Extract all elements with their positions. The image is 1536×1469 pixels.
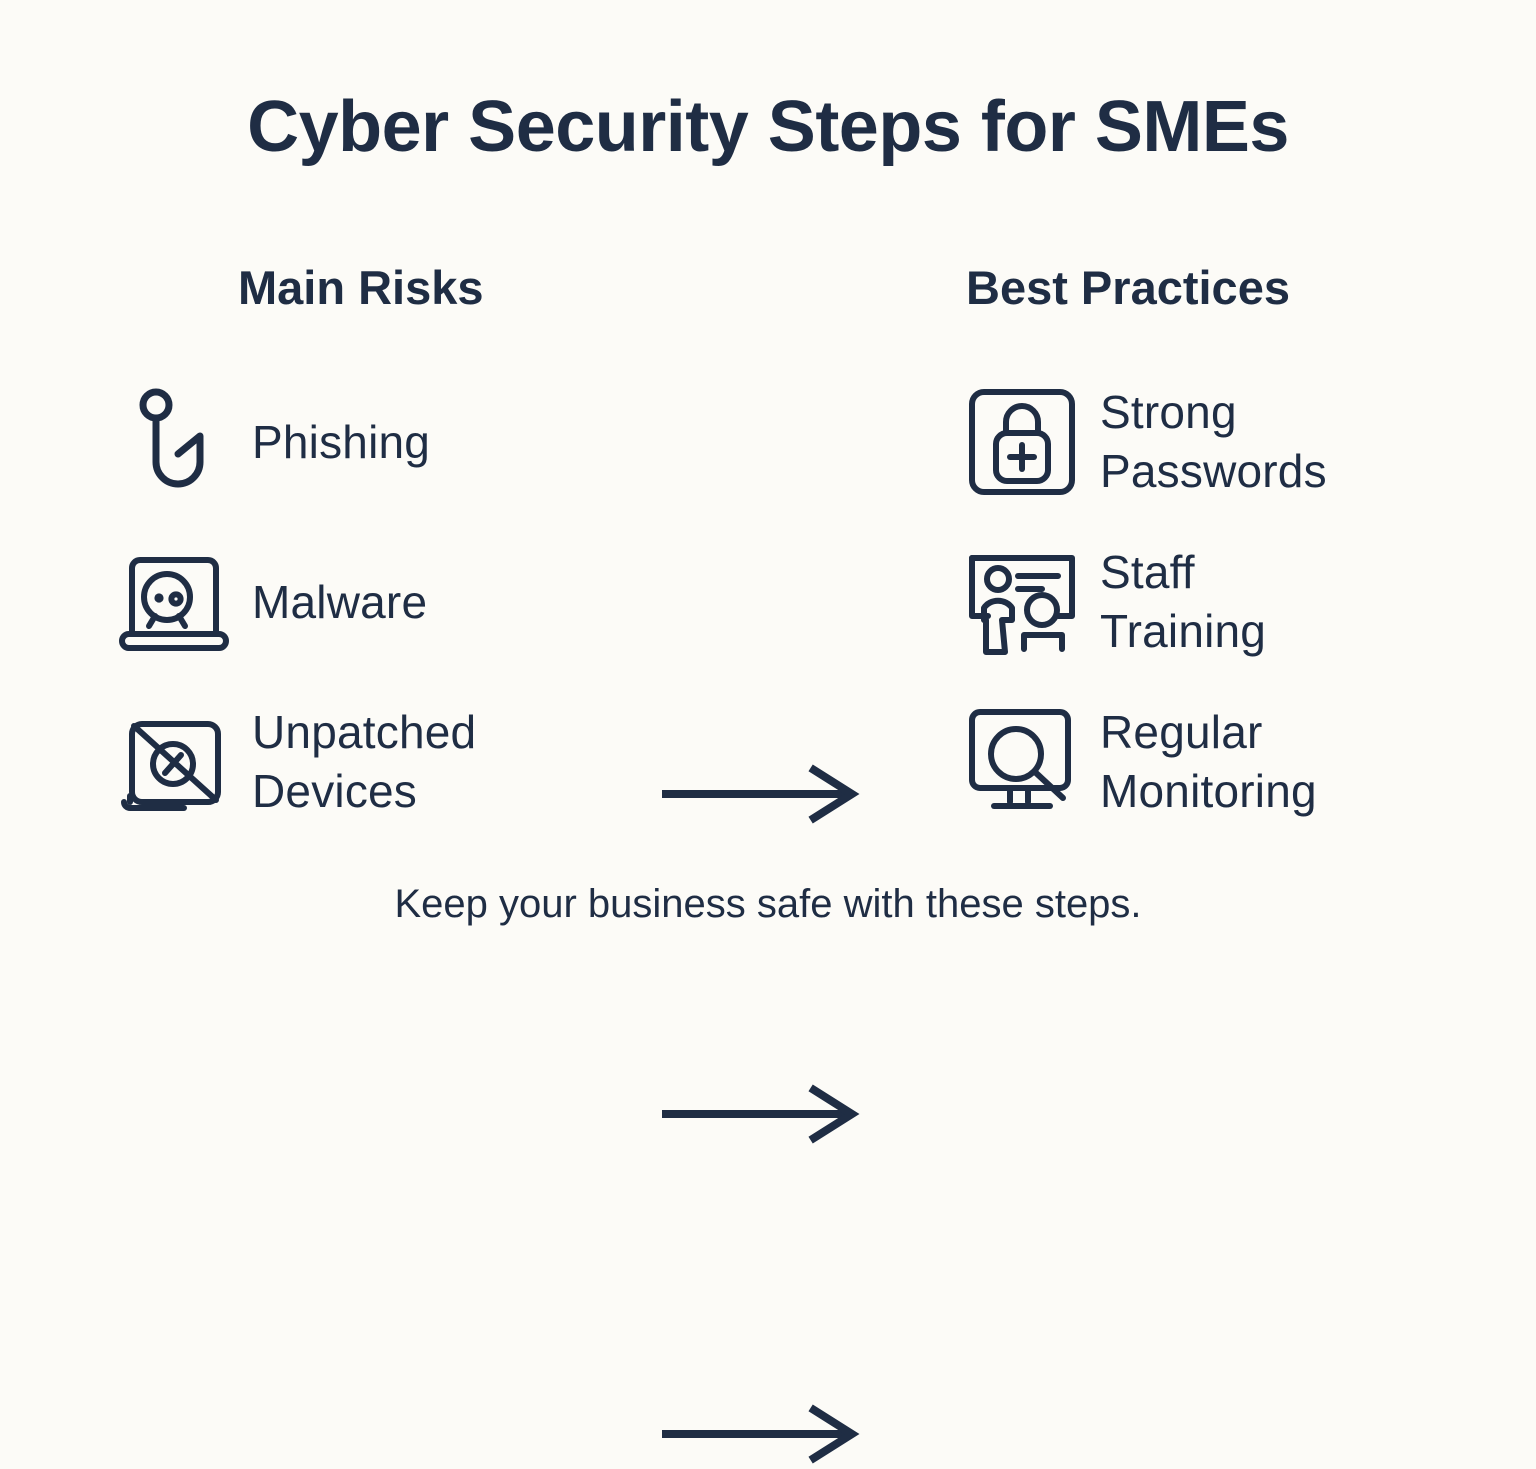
arrow-right-icon [662,1084,862,1144]
practice-label: Staff Training [1100,543,1266,661]
risk-item-malware: Malware [118,522,427,682]
practice-label: Regular Monitoring [1100,703,1317,821]
practice-item-strong-passwords: Strong Passwords [966,362,1327,522]
laptop-blocked-icon [118,706,230,818]
column-header-best-practices: Best Practices [966,262,1290,314]
practice-item-staff-training: Staff Training [966,522,1266,682]
mapping-row: Malware Staff Traini [0,522,1536,682]
mapping-row: Phishing Strong Passwords [0,362,1536,522]
mapping-row: Unpatched Devices Regular Monitoring [0,682,1536,842]
footer-caption: Keep your business safe with these steps… [0,882,1536,927]
laptop-bug-icon [118,546,230,658]
page-title: Cyber Security Steps for SMEs [0,88,1536,167]
risk-label: Unpatched Devices [252,703,476,821]
risk-item-phishing: Phishing [118,362,430,522]
padlock-plus-icon [966,386,1078,498]
arrow-right-icon [662,1404,862,1464]
practice-item-regular-monitoring: Regular Monitoring [966,682,1317,842]
infographic-canvas: Cyber Security Steps for SMEs Main Risks… [0,0,1536,1024]
risk-item-unpatched-devices: Unpatched Devices [118,682,476,842]
column-header-main-risks: Main Risks [238,262,484,314]
fish-hook-icon [118,386,230,498]
monitor-magnifier-icon [966,706,1078,818]
risk-label: Malware [252,573,427,632]
risk-label: Phishing [252,413,430,472]
presentation-training-icon [966,546,1078,658]
practice-label: Strong Passwords [1100,383,1327,501]
